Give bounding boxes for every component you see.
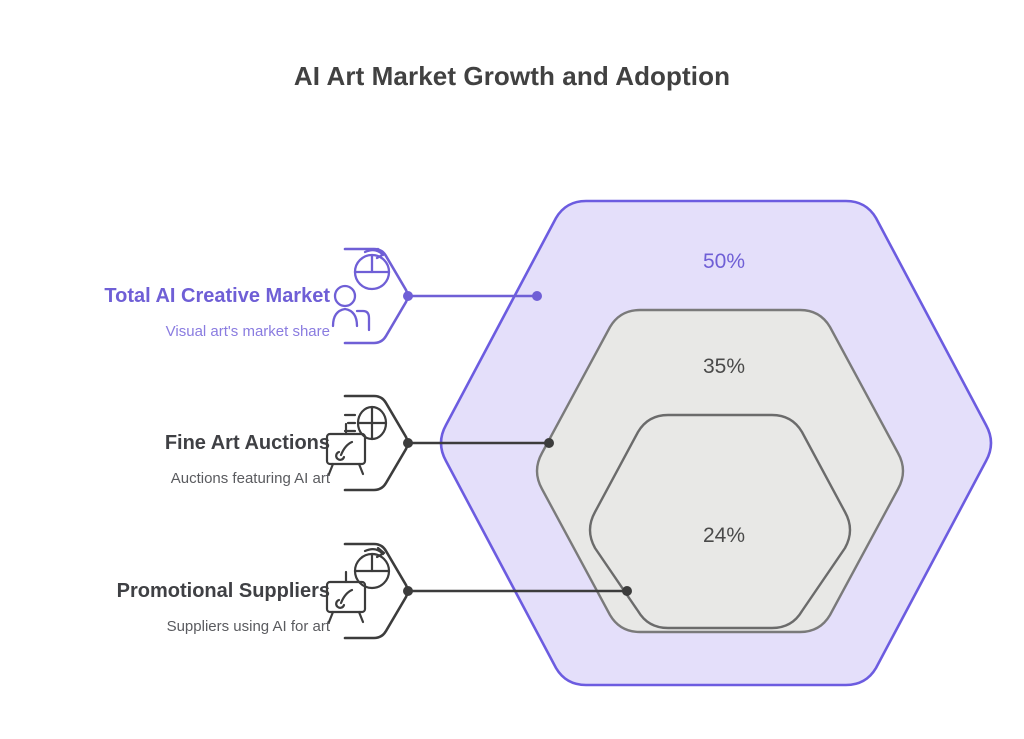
bracket-icon-3 bbox=[345, 544, 408, 638]
easel-globe-grid-icon bbox=[327, 407, 386, 474]
value-label-outer: 50% bbox=[703, 250, 745, 273]
value-label-inner: 24% bbox=[703, 524, 745, 547]
hexagon-inner[interactable] bbox=[590, 415, 850, 628]
easel-refresh-sphere-icon bbox=[327, 548, 389, 622]
connector-dot-start-2 bbox=[403, 438, 413, 448]
person-pie-chart-icon bbox=[333, 249, 389, 330]
infographic-canvas: 50% 35% 24% bbox=[0, 0, 1024, 739]
connector-dot-end-1 bbox=[532, 291, 542, 301]
connector-dot-end-2 bbox=[544, 438, 554, 448]
connector-dot-start-1 bbox=[403, 291, 413, 301]
value-label-middle: 35% bbox=[703, 355, 745, 378]
connector-dot-start-3 bbox=[403, 586, 413, 596]
connector-dot-end-3 bbox=[622, 586, 632, 596]
bracket-icon-2 bbox=[345, 396, 408, 490]
